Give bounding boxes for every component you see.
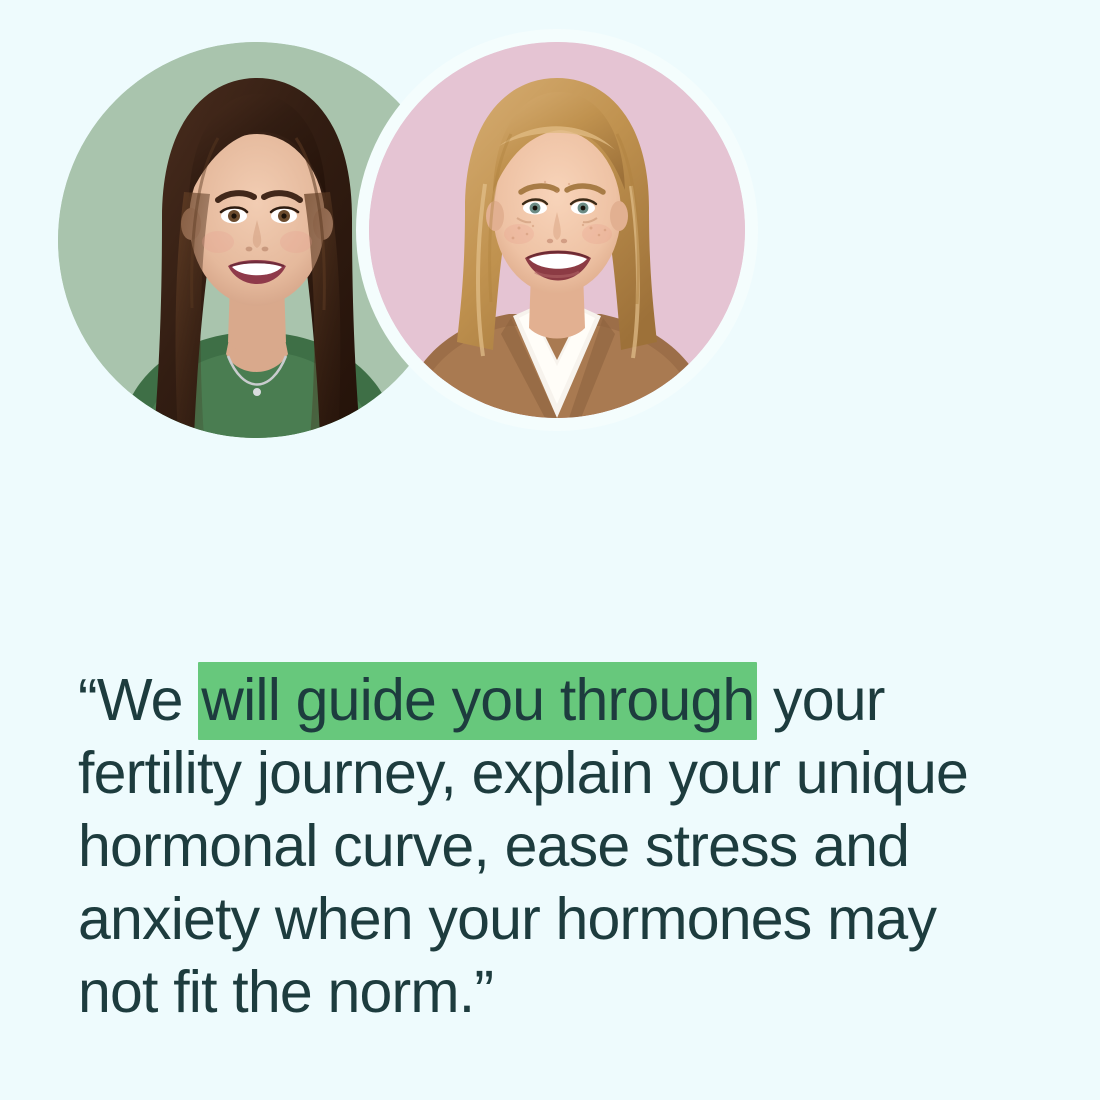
quote-segment-plain-1: We: [97, 667, 198, 733]
quote-open-mark: “: [78, 667, 97, 733]
testimonial-card: “We will guide you through your fertilit…: [0, 0, 1100, 1100]
quote-text: “We will guide you through your fertilit…: [78, 664, 1008, 1029]
avatar-cluster: [0, 0, 780, 480]
quote-highlighted-phrase: will guide you through: [198, 662, 757, 740]
avatar-right-photo: [369, 42, 745, 418]
quote-block: “We will guide you through your fertilit…: [78, 664, 1008, 1029]
quote-close-mark: ”: [474, 959, 493, 1025]
avatar-right: [369, 42, 745, 418]
